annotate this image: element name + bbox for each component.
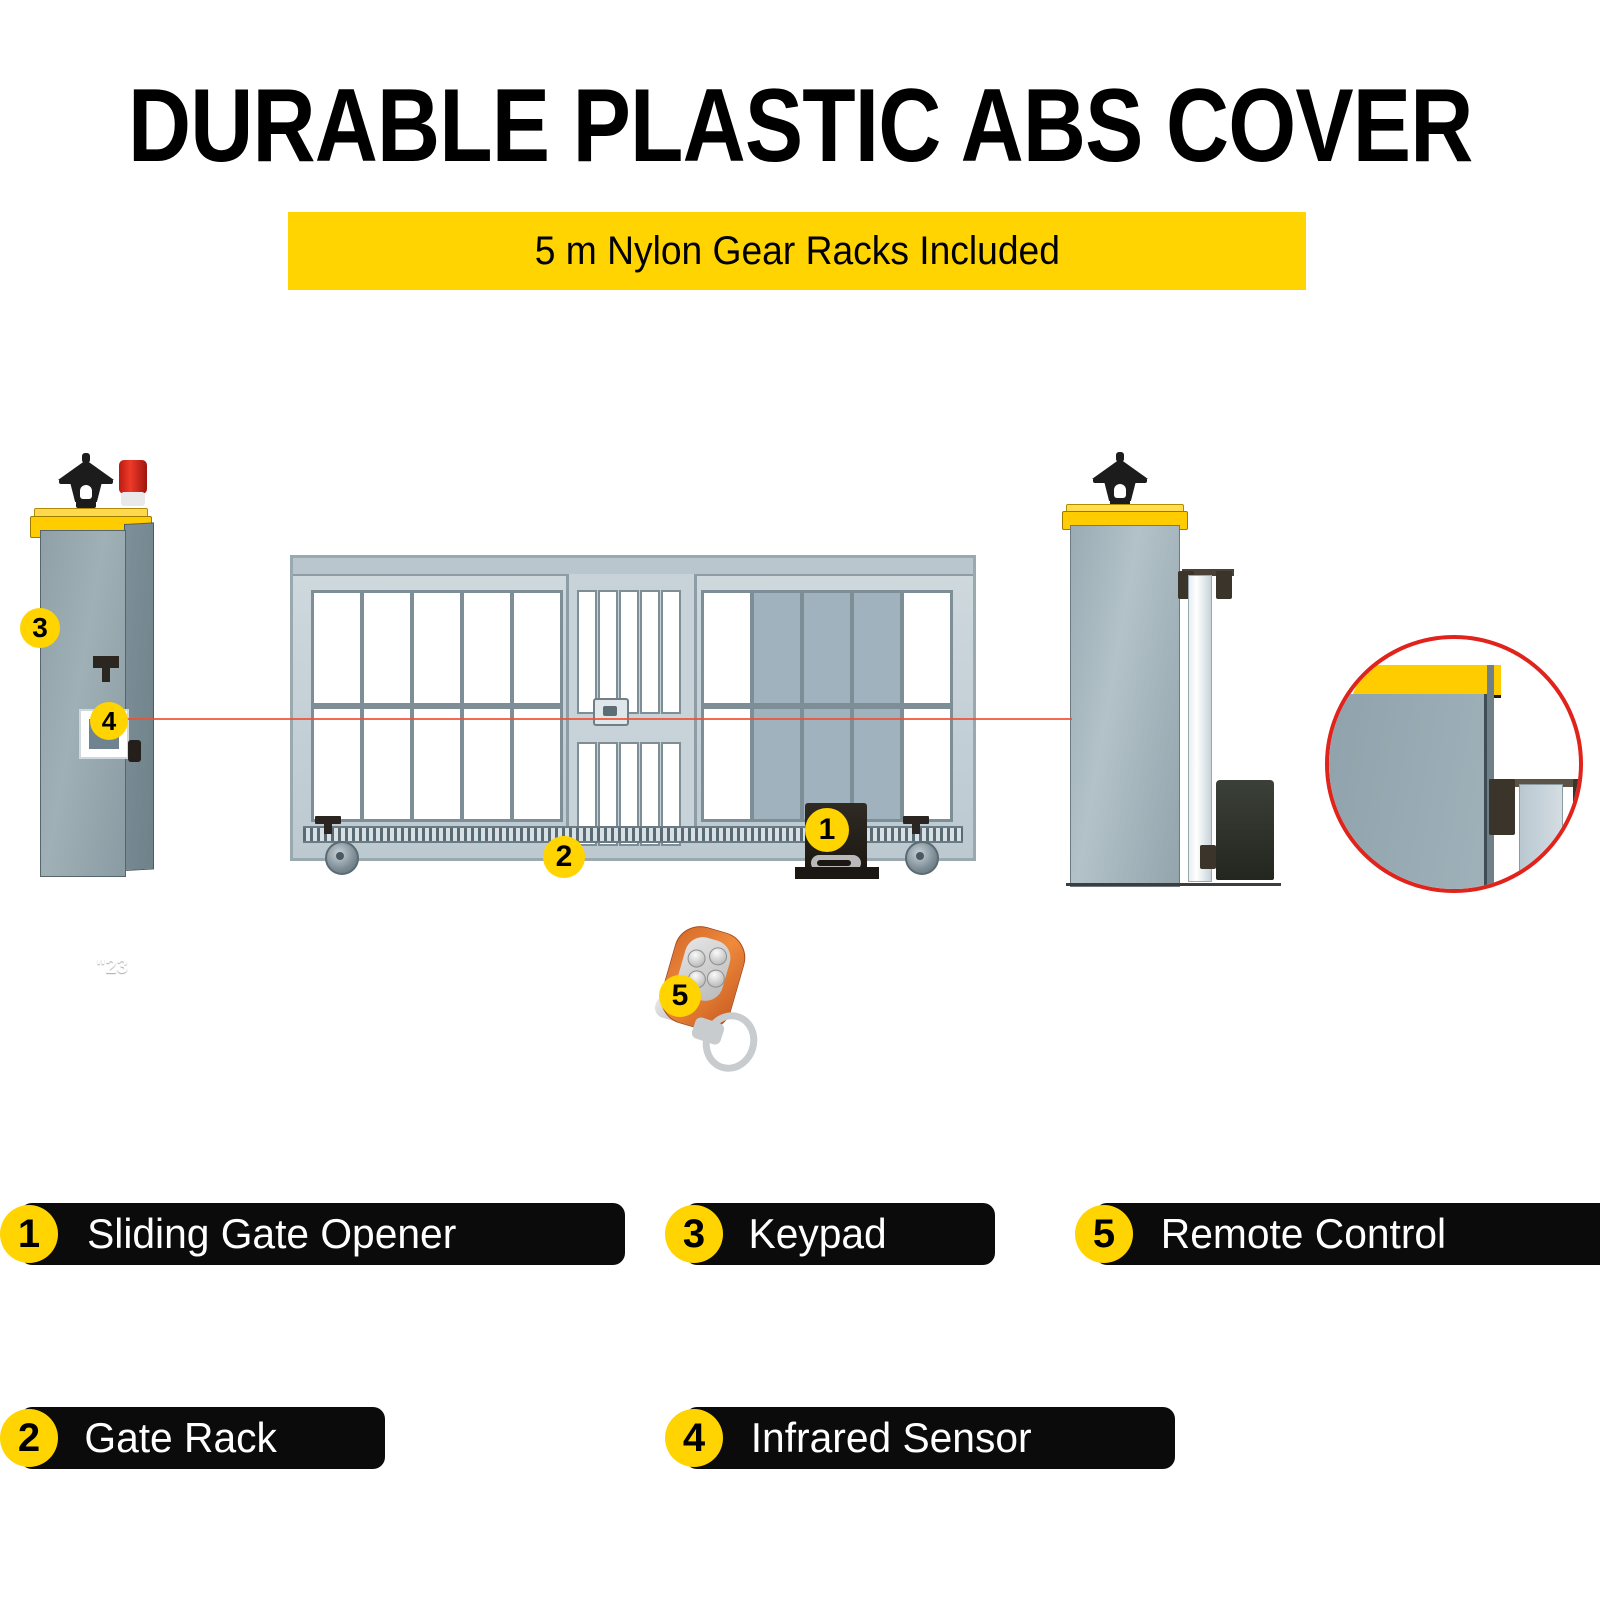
gate-frame	[290, 555, 976, 861]
motor-base-plate	[795, 867, 879, 879]
rack-mount-clip	[903, 816, 929, 824]
pillar-side-face	[124, 522, 154, 871]
card-slot-icon	[93, 656, 119, 668]
gate-window	[701, 590, 753, 706]
gate-roller	[325, 841, 359, 875]
badge-sliding-gate-opener: 1	[805, 808, 849, 852]
legend-label-5: Remote Control	[1101, 1213, 1468, 1255]
rail-bracket	[1216, 571, 1232, 599]
rail-bracket	[1200, 845, 1216, 869]
gate-slat	[661, 590, 681, 714]
badge-keypad: 3	[20, 608, 60, 648]
legend-pill-2: Gate Rack	[20, 1407, 385, 1469]
gate-motor-unit	[1216, 780, 1274, 880]
gate-lock-handle	[593, 698, 629, 726]
detail-roller-bracket	[1573, 779, 1583, 835]
ground-line	[1066, 883, 1281, 886]
gate-window	[751, 590, 803, 706]
gate-slat	[598, 590, 618, 714]
lantern-icon	[58, 448, 114, 510]
legend-pill-3: Keypad	[685, 1203, 995, 1265]
gate-window	[461, 706, 513, 822]
legend-label-4: Infrared Sensor	[691, 1417, 1053, 1459]
gate-roller	[905, 841, 939, 875]
gate-window	[311, 706, 363, 822]
page-title: DURABLE PLASTIC ABS COVER	[128, 74, 1472, 178]
gate-center-panel	[566, 574, 697, 842]
gate-window	[851, 590, 903, 706]
infrared-sensor-unit	[128, 740, 141, 762]
detail-roller-bracket	[1489, 779, 1515, 835]
gate-window	[511, 590, 563, 706]
gate-window	[361, 706, 413, 822]
detail-gate-panel	[1519, 784, 1563, 893]
infrared-beam-line	[122, 718, 1072, 720]
subtitle-banner: 5 m Nylon Gear Racks Included	[288, 212, 1306, 290]
badge-gate-rack: 2	[543, 836, 585, 878]
gate-window	[311, 590, 363, 706]
gate-window	[411, 590, 463, 706]
badge-remote-control: 5	[659, 975, 701, 1017]
gate-window	[901, 590, 953, 706]
gate-window	[511, 706, 563, 822]
right-pillar-assembly	[1060, 425, 1290, 895]
badge-infrared-sensor: 4	[90, 702, 128, 740]
gate-window	[701, 706, 753, 822]
legend-number-2: 2	[0, 1409, 58, 1467]
detail-pillar-wall	[1325, 694, 1487, 893]
subtitle-banner-text: 5 m Nylon Gear Racks Included	[534, 229, 1059, 274]
product-illustration: "23 3 4	[0, 400, 1600, 1100]
legend-label-2: Gate Rack	[24, 1417, 298, 1459]
guide-rail	[1188, 575, 1212, 882]
pillar-size-label: "23	[96, 956, 128, 979]
red-beacon-light-icon	[118, 450, 148, 508]
pillar-front-face	[1070, 525, 1180, 887]
left-pillar-assembly: "23	[20, 430, 180, 890]
legend-number-3: 3	[665, 1205, 723, 1263]
legend-number-5: 5	[1075, 1205, 1133, 1263]
sliding-gate	[290, 555, 970, 875]
lantern-icon	[1092, 447, 1148, 509]
legend-pill-1: Sliding Gate Opener	[20, 1203, 625, 1265]
rack-mount-clip	[315, 816, 341, 824]
legend-number-1: 1	[0, 1205, 58, 1263]
detail-callout-circle	[1325, 635, 1583, 893]
legend: Sliding Gate Opener 1 Gate Rack 2 Keypad…	[0, 1185, 1600, 1515]
gate-window	[901, 706, 953, 822]
gate-window	[801, 590, 853, 706]
infographic-page: DURABLE PLASTIC ABS COVER 5 m Nylon Gear…	[0, 0, 1600, 1600]
legend-pill-4: Infrared Sensor	[685, 1407, 1175, 1469]
gate-slat	[640, 590, 660, 714]
legend-number-4: 4	[665, 1409, 723, 1467]
legend-pill-5: Remote Control	[1095, 1203, 1600, 1265]
gate-window	[411, 706, 463, 822]
gate-slat	[577, 590, 597, 714]
gate-window	[751, 706, 803, 822]
gate-window	[461, 590, 513, 706]
legend-label-1: Sliding Gate Opener	[27, 1213, 478, 1255]
gate-slat	[619, 590, 639, 714]
gate-window	[361, 590, 413, 706]
